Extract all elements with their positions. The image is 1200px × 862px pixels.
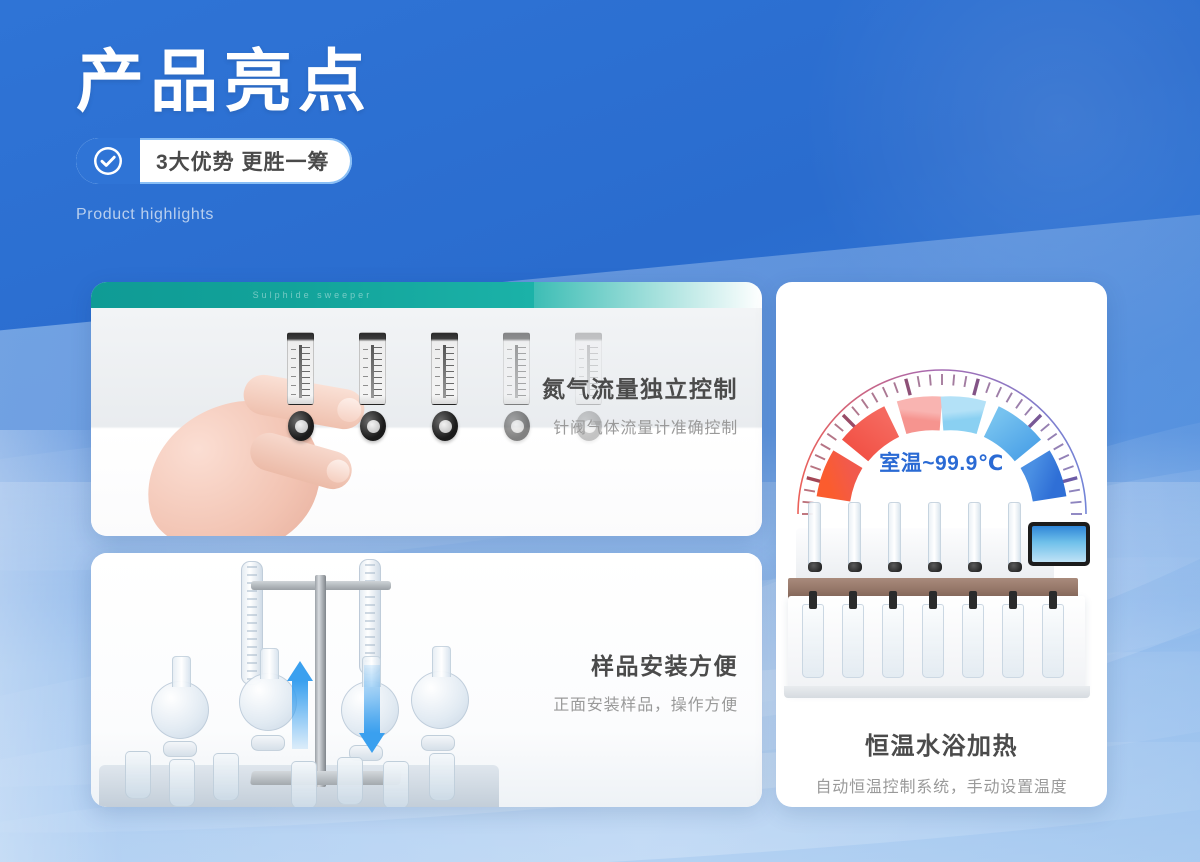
card-water-bath-heating[interactable]: 室温~99.9℃ 恒温水浴加热 自动恒温控制系统，手动设置温度 [776,282,1107,807]
card-banner-fade [534,282,762,308]
support-stand [315,575,326,787]
temperature-gauge: 室温~99.9℃ [776,308,1107,518]
arrow-down-icon [359,665,385,753]
badge-label: 3大优势 更胜一筹 [140,138,352,184]
card-text-block: 恒温水浴加热 自动恒温控制系统，手动设置温度 [776,726,1107,797]
arrow-up-icon [287,661,313,749]
card-text-block: 样品安装方便 正面安装样品，操作方便 [553,647,738,715]
round-flask [411,671,469,729]
card-subheading: 正面安装样品，操作方便 [553,691,738,715]
flowmeter-unit [431,332,458,441]
card-banner-strip: Sulphide sweeper [91,282,534,308]
flowmeter-unit [503,332,530,441]
card-subheading: 针阀气体流量计准确控制 [542,414,738,438]
gauge-label: 室温~99.9℃ [776,447,1107,477]
flowmeter-unit [287,332,314,441]
card-subheading: 自动恒温控制系统，手动设置温度 [776,773,1107,797]
flowmeter-unit [359,332,386,441]
card-nitrogen-flow[interactable]: Sulphide sweeper 氮气流量独立控制 针阀气体流量计准确控制 [91,282,762,536]
round-flask [151,681,209,739]
page-title: 产品亮点 [76,44,596,120]
check-circle-icon [76,138,140,184]
card-heading: 恒温水浴加热 [776,726,1107,761]
instrument-upper-deck [796,528,1054,578]
control-touchscreen[interactable] [1028,522,1090,566]
card-banner-text: Sulphide sweeper [91,282,534,308]
page-header: 产品亮点 3大优势 更胜一筹 Product highlights [76,44,596,224]
card-heading: 氮气流量独立控制 [542,370,738,404]
hand-illustration [191,380,341,536]
instrument-body [788,596,1085,692]
card-sample-install[interactable]: 样品安装方便 正面安装样品，操作方便 [91,553,762,807]
card-heading: 样品安装方便 [553,647,738,681]
instrument-photo [788,500,1095,704]
card-text-block: 氮气流量独立控制 针阀气体流量计准确控制 [542,370,738,438]
advantages-badge: 3大优势 更胜一筹 [76,138,352,184]
page-subtitle-en: Product highlights [76,206,596,224]
